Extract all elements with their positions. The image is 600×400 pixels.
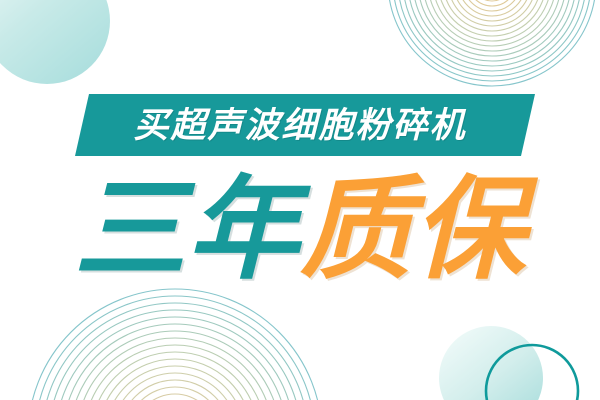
top-left-circle-decoration [0,0,110,84]
top-right-arc-decoration [388,0,596,86]
headline: 三年 质保 [0,166,600,294]
bottom-right-filled-circle-decoration [439,326,543,400]
poster-canvas: 买超声波细胞粉碎机 三年 质保 [0,0,600,400]
bottom-right-ring-circle-decoration [486,345,578,400]
headline-segment-teal: 三年 [74,174,300,286]
bottom-left-arc-decoration [28,289,322,400]
headline-segment-orange: 质保 [300,174,526,286]
banner-title: 买超声波细胞粉碎机 [0,94,600,156]
banner: 买超声波细胞粉碎机 [0,94,600,156]
